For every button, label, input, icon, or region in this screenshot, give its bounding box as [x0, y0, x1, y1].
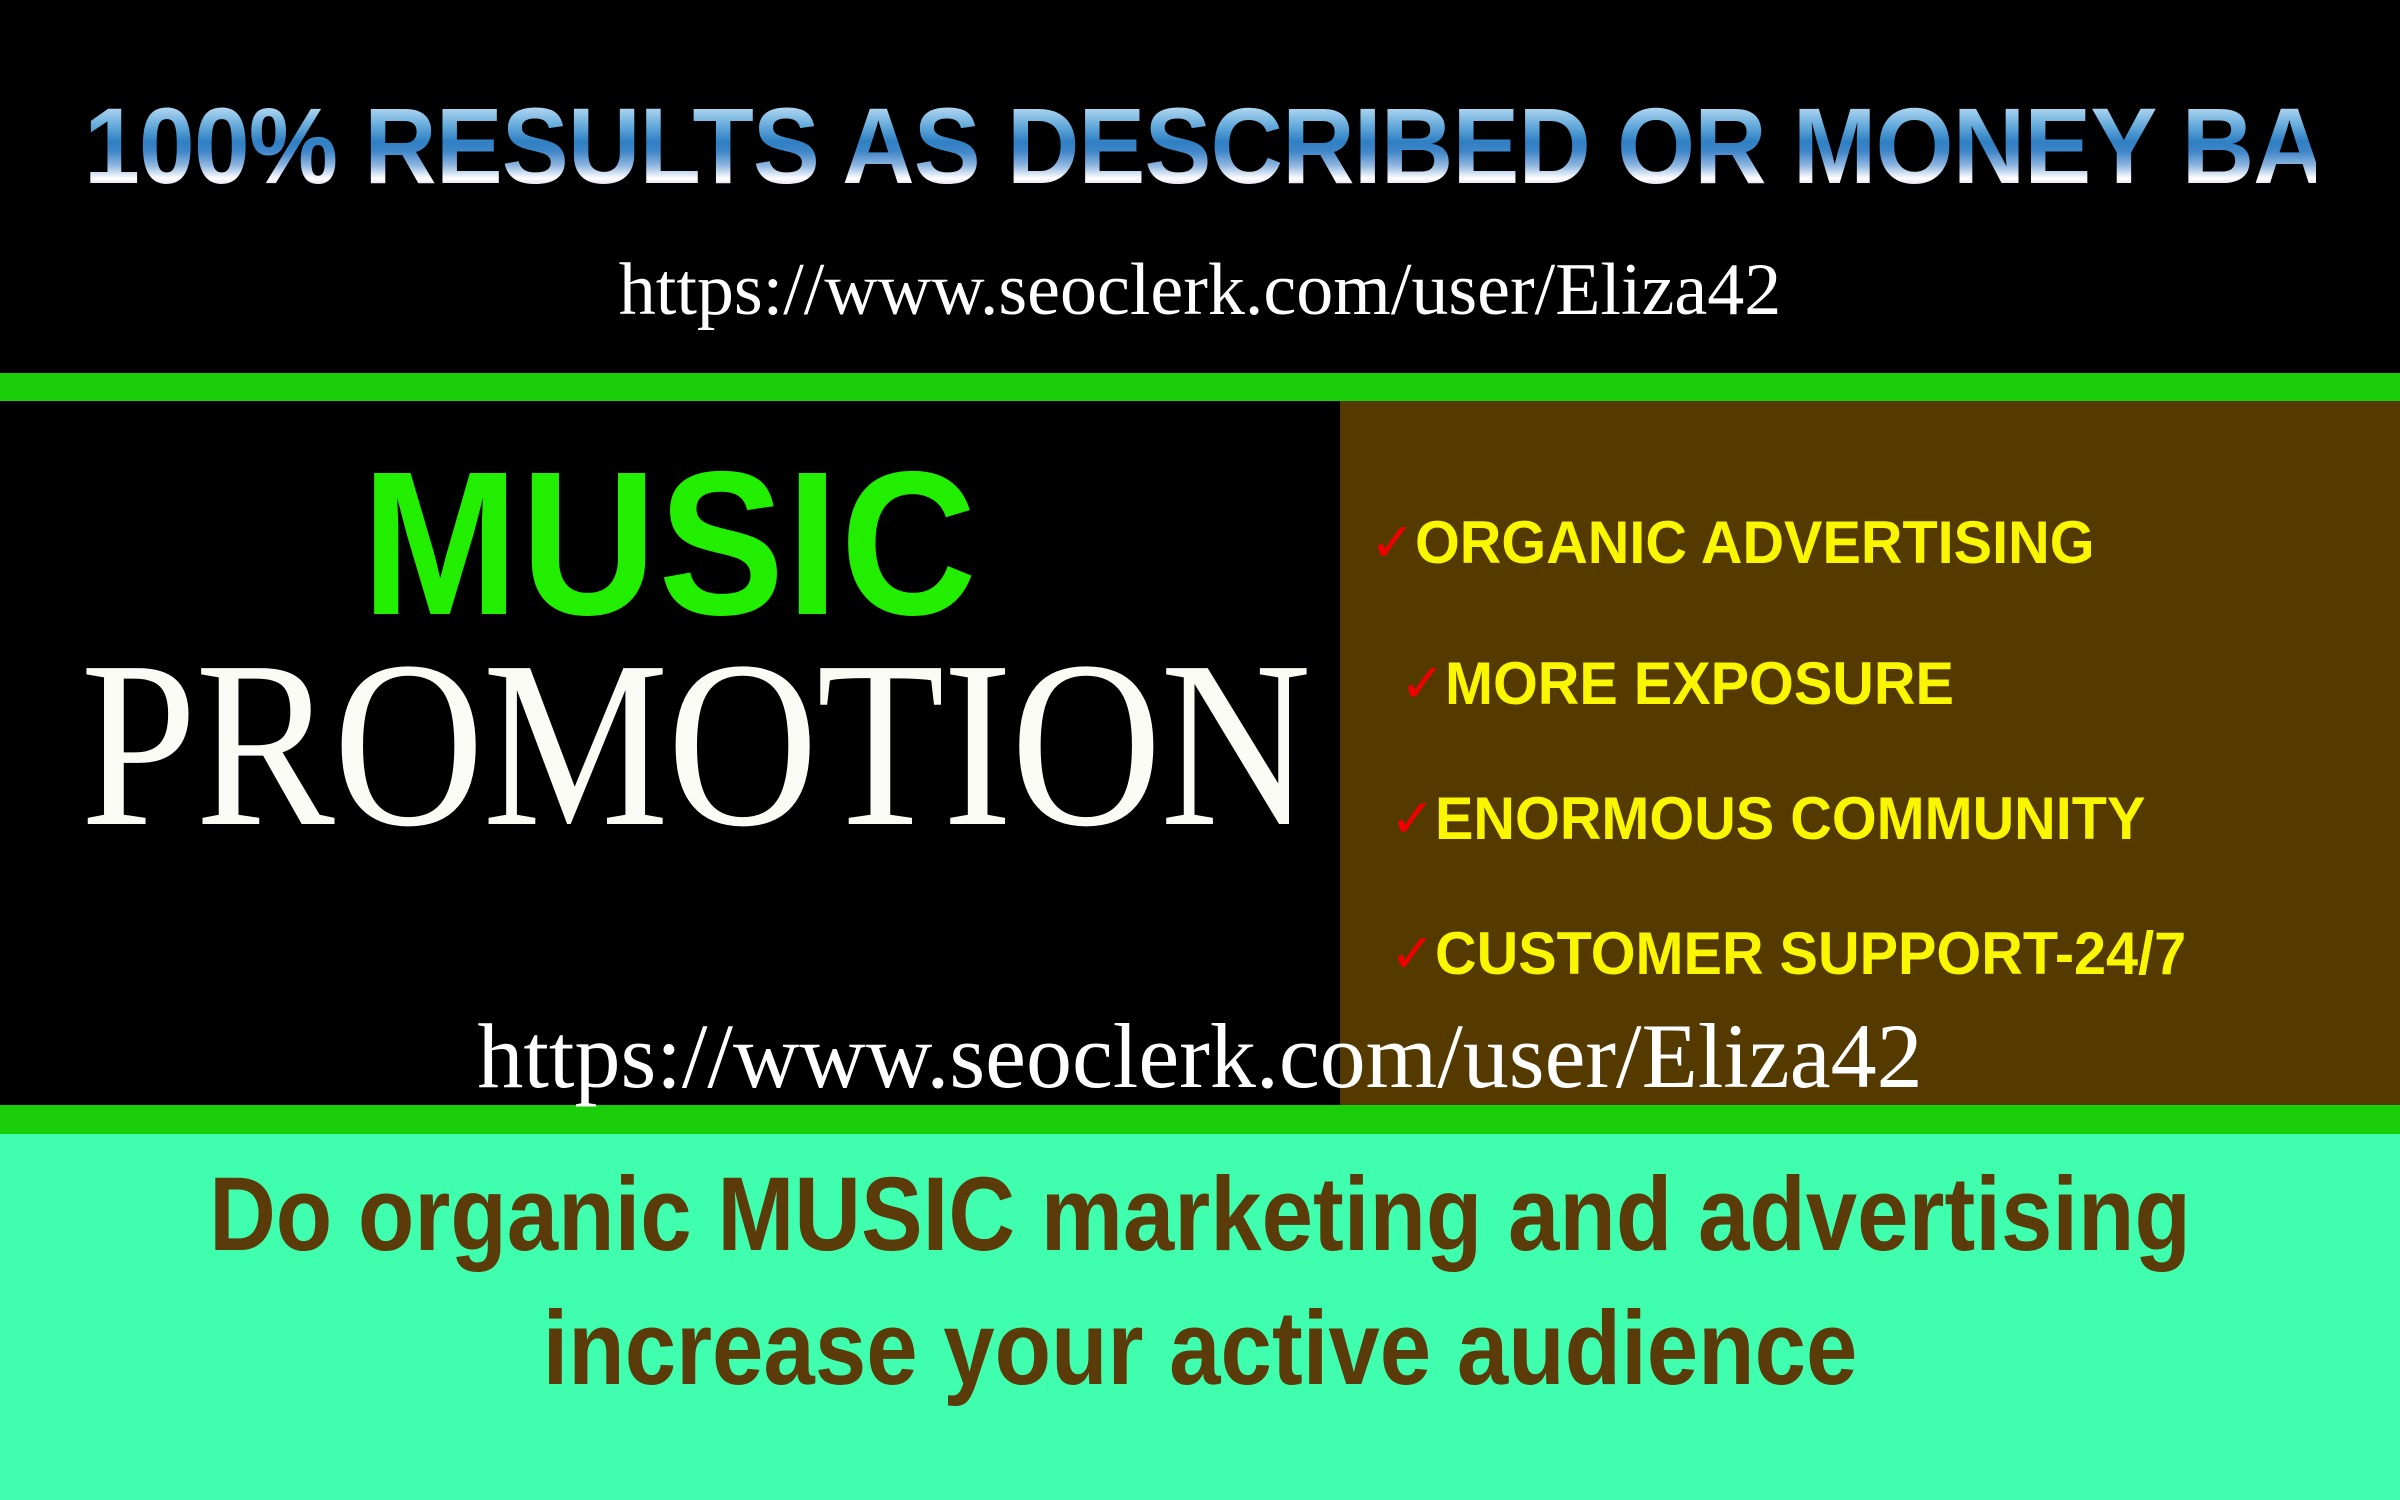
- title-promotion: PROMOTION: [80, 626, 1259, 864]
- tagline-line-2: increase your active audience: [144, 1296, 2256, 1401]
- list-item: ✓ ORGANIC ADVERTISING: [1340, 513, 2400, 573]
- left-title-panel: MUSIC PROMOTION: [0, 401, 1340, 1105]
- feature-bullet-list: ✓ ORGANIC ADVERTISING ✓ MORE EXPOSURE ✓ …: [1340, 401, 2400, 1105]
- tagline-line-1: Do organic MUSIC marketing and advertisi…: [144, 1162, 2256, 1267]
- middle-profile-url[interactable]: https://www.seoclerk.com/user/Eliza42: [0, 1010, 2400, 1102]
- list-item: ✓ MORE EXPOSURE: [1340, 654, 2400, 714]
- top-profile-url[interactable]: https://www.seoclerk.com/user/Eliza42: [0, 248, 2400, 333]
- check-icon: ✓: [1390, 792, 1435, 846]
- bullet-label: ENORMOUS COMMUNITY: [1435, 789, 2145, 849]
- bullet-label: CUSTOMER SUPPORT-24/7: [1435, 924, 2186, 984]
- green-divider-bottom: [0, 1105, 2400, 1134]
- list-item: ✓ CUSTOMER SUPPORT-24/7: [1340, 924, 2400, 984]
- guarantee-headline: 100% RESULTS AS DESCRIBED OR MONEY BACK …: [84, 92, 2316, 200]
- promotional-banner: 100% RESULTS AS DESCRIBED OR MONEY BACK …: [0, 0, 2400, 1500]
- green-divider-top: [0, 373, 2400, 401]
- bottom-tagline-section: Do organic MUSIC marketing and advertisi…: [0, 1134, 2400, 1500]
- check-icon: ✓: [1390, 927, 1435, 981]
- check-icon: ✓: [1370, 516, 1415, 570]
- bullet-label: ORGANIC ADVERTISING: [1415, 513, 2095, 573]
- top-header-section: 100% RESULTS AS DESCRIBED OR MONEY BACK …: [0, 0, 2400, 373]
- bullet-label: MORE EXPOSURE: [1445, 654, 1954, 714]
- check-icon: ✓: [1400, 657, 1445, 711]
- list-item: ✓ ENORMOUS COMMUNITY: [1340, 789, 2400, 849]
